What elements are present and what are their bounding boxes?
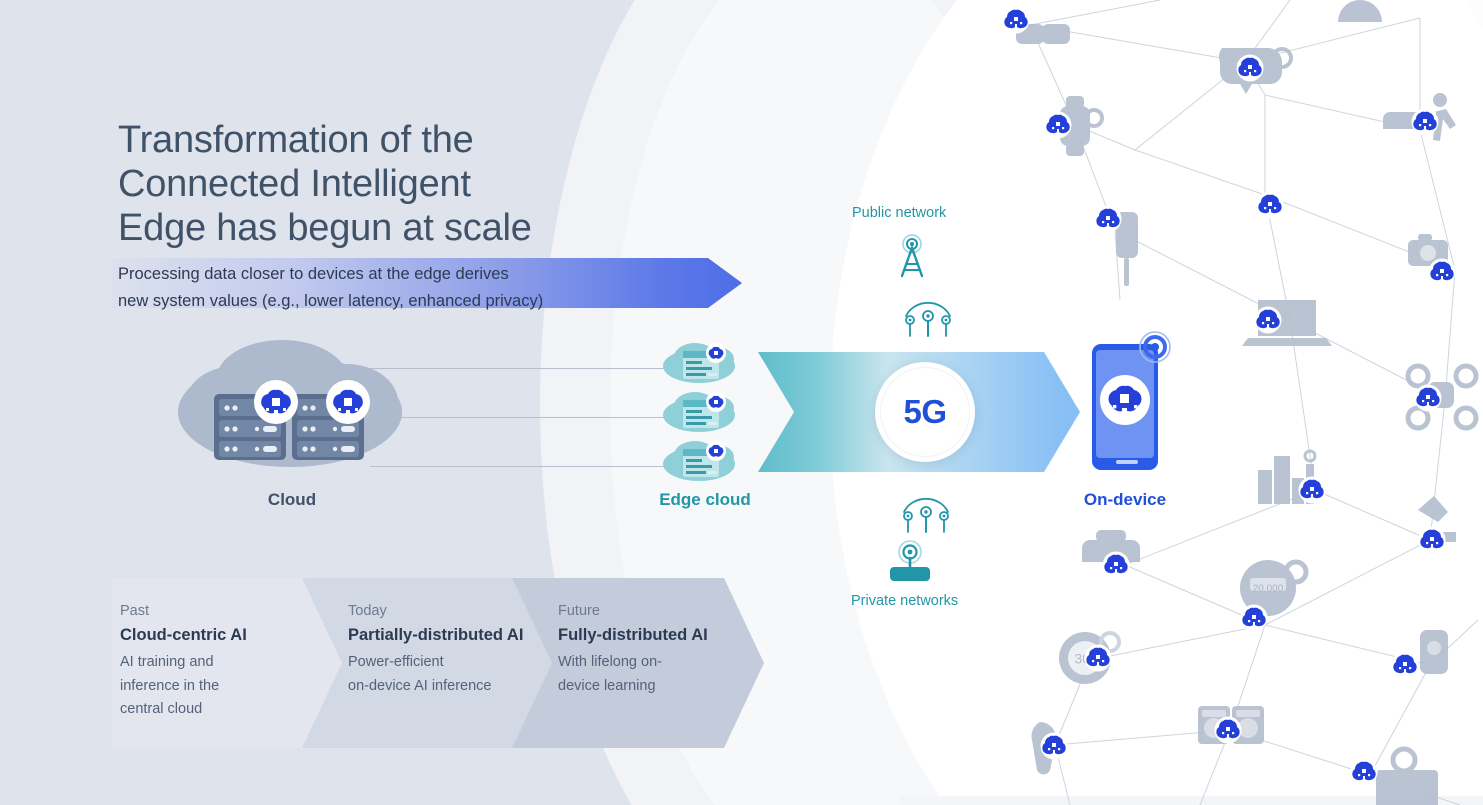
private-networks-label: Private networks [851,593,958,609]
connector-line-1 [370,368,670,369]
on-device-illustration [1088,330,1186,470]
subtitle-banner-text: Processing data closer to devices at the… [118,261,738,315]
timeline-desc-future: With lifelong on- device learning [558,651,764,698]
transport-badge-label: 5G [903,393,946,431]
timeline-era-future: Future [558,602,764,621]
page-title: Transformation of the Connected Intellig… [118,118,532,250]
edge-cloud-label: Edge cloud [610,490,800,510]
small-cell-antennas-icon [900,296,956,338]
public-network-label: Public network [852,205,946,221]
on-device-label: On-device [1050,490,1200,510]
edge-cloud-illustration [663,340,749,485]
transport-badge: 5G [875,362,975,462]
connector-line-3 [370,466,670,467]
cloud-label: Cloud [178,490,406,510]
slide-canvas: 20,000 30° [0,0,1483,805]
background-bottom-strip [900,796,1483,805]
timeline-title-future: Fully-distributed AI [558,623,764,647]
small-cell-antennas-icon-2 [898,492,954,534]
timeline-stage-future[interactable]: Future Fully-distributed AI With lifelon… [512,578,764,748]
cell-tower-icon [888,232,936,280]
connector-line-2 [370,417,670,418]
access-point-icon [884,538,936,584]
cloud-illustration [178,340,406,480]
